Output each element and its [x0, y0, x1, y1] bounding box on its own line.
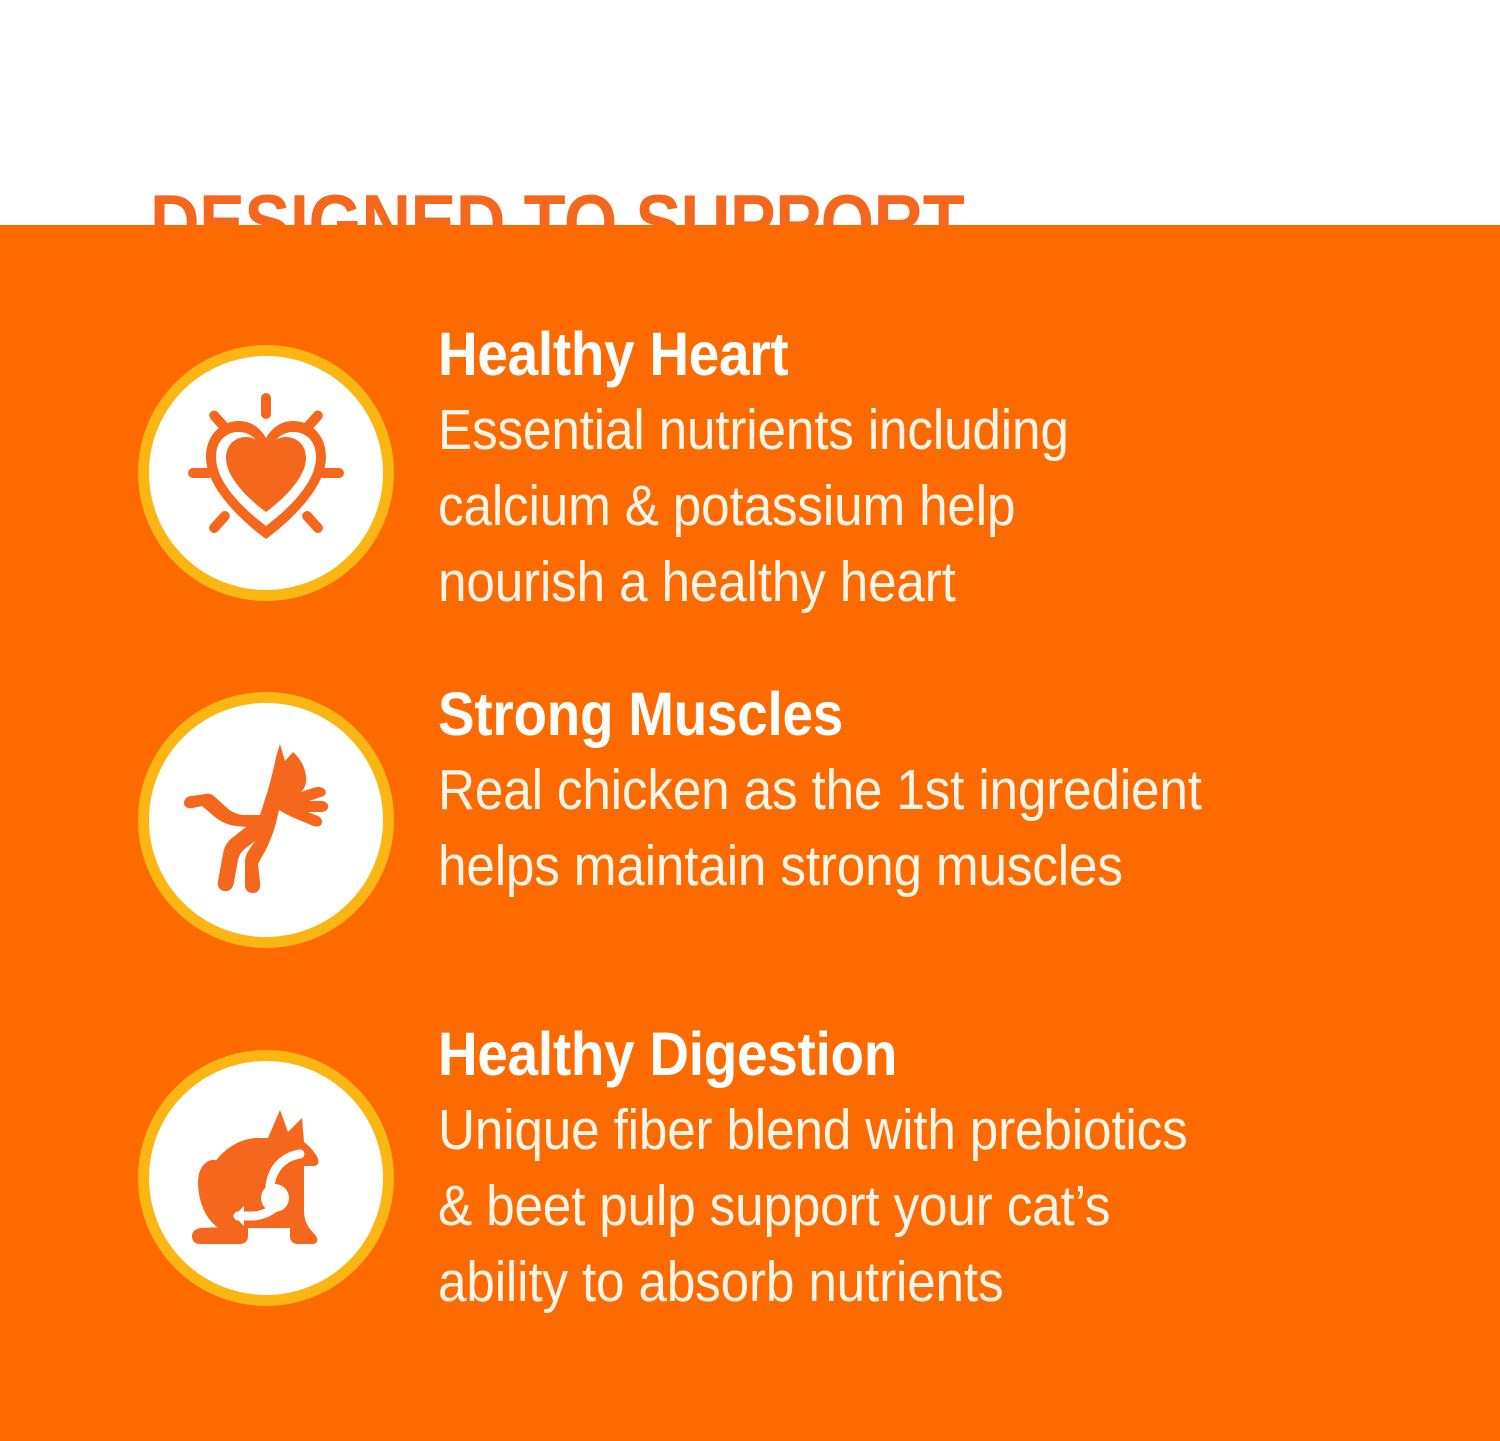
feature-heading: Healthy Digestion [438, 1020, 1340, 1088]
feature-heading: Healthy Heart [438, 320, 1340, 388]
feature-text: Healthy Digestion Unique fiber blend wit… [394, 1020, 1500, 1320]
feature-icon-wrap [138, 692, 394, 948]
feature-body-line: helps maintain strong muscles [438, 828, 1340, 904]
feature-body-line: calcium & potassium help [438, 468, 1340, 544]
leaping-cat-icon [176, 730, 356, 910]
header-band: DESIGNED TO SUPPORT HEALTHY BODIES [0, 0, 1500, 225]
feature-body: Real chicken as the 1st ingredient helps… [438, 752, 1340, 904]
icon-circle [138, 345, 394, 601]
feature-row-healthy-digestion: Healthy Digestion Unique fiber blend wit… [0, 1020, 1500, 1320]
feature-icon-wrap [138, 345, 394, 601]
sitting-cat-digestion-icon [176, 1088, 356, 1268]
feature-body-line: Unique fiber blend with prebiotics [438, 1092, 1340, 1168]
feature-body: Essential nutrients including calcium & … [438, 392, 1340, 620]
feature-body: Unique fiber blend with prebiotics & bee… [438, 1092, 1340, 1320]
heart-with-rays-icon [180, 387, 352, 559]
feature-text: Strong Muscles Real chicken as the 1st i… [394, 680, 1500, 904]
feature-body-line: Real chicken as the 1st ingredient [438, 752, 1340, 828]
feature-icon-wrap [138, 1050, 394, 1306]
feature-body-line: nourish a healthy heart [438, 544, 1340, 620]
feature-text: Healthy Heart Essential nutrients includ… [394, 320, 1500, 620]
icon-circle [138, 1050, 394, 1306]
feature-row-healthy-heart: Healthy Heart Essential nutrients includ… [0, 320, 1500, 620]
feature-body-line: ability to absorb nutrients [438, 1244, 1340, 1320]
feature-body-line: & beet pulp support your cat’s [438, 1168, 1340, 1244]
feature-heading: Strong Muscles [438, 680, 1340, 748]
infographic-page: DESIGNED TO SUPPORT HEALTHY BODIES [0, 0, 1500, 1441]
features-panel: Healthy Heart Essential nutrients includ… [0, 225, 1500, 1441]
feature-body-line: Essential nutrients including [438, 392, 1340, 468]
feature-row-strong-muscles: Strong Muscles Real chicken as the 1st i… [0, 680, 1500, 948]
icon-circle [138, 692, 394, 948]
